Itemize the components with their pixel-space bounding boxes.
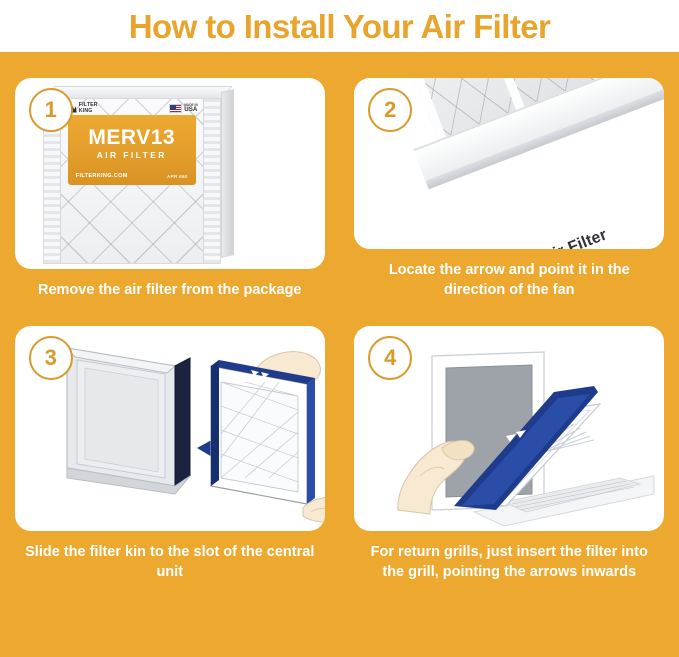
step-1-caption: Remove the air filter from the package [20,280,320,300]
usa-text-block: MADE IN USA [184,104,197,113]
central-unit-box [67,348,190,494]
step-1-badge: 1 [29,88,73,132]
filter-orange-label: MERV13 AIR FILTER FILTERKING.COM APR 650 [68,115,196,185]
step-3: 3 Slide the filter kin to the slot of th… [0,300,340,657]
step-2: Air Filter AIRFLOW 2 Locate the arrow an… [340,52,679,300]
filter-right-pleats [203,99,220,263]
made-in-usa-mark: MADE IN USA [169,104,197,113]
step-4-card: 4 [354,326,664,531]
filter-side-edge [221,89,234,258]
step-1: FILTER KING MADE IN USA [0,52,340,300]
air-filter-side-label: Air Filter [540,226,610,249]
step-4-caption: For return grills, just insert the filte… [359,542,659,582]
step-2-badge: 2 [368,88,412,132]
filter-corner-body: Air Filter AIRFLOW [366,78,664,222]
steps-background: FILTER KING MADE IN USA [0,52,679,657]
country-label: USA [184,106,197,113]
step-1-card: FILTER KING MADE IN USA [15,78,325,269]
brand-name: FILTER KING [79,103,98,114]
step-3-card: 3 [15,326,325,531]
blue-framed-filter [211,360,315,504]
step-4-badge: 4 [368,336,412,380]
label-footer-row: FILTERKING.COM APR 650 [76,173,188,179]
title-bar: How to Install Your Air Filter [0,0,679,52]
apr-rating-label: APR 650 [167,174,188,179]
step-3-caption: Slide the filter kin to the slot of the … [20,542,320,582]
step-4: 4 For return grills, just insert the fil… [340,300,679,657]
brand-line-2: KING [79,108,93,114]
filter-type-label: AIR FILTER [68,150,196,160]
merv-rating: MERV13 [68,126,196,150]
us-flag-icon [169,104,182,113]
step-3-badge: 3 [29,336,73,380]
step-2-card: Air Filter AIRFLOW 2 [354,78,664,249]
filter-front-face: FILTER KING MADE IN USA [43,98,221,264]
infographic-root: How to Install Your Air Filter [0,0,679,657]
filter-brand-row: FILTER KING MADE IN USA [68,101,198,116]
page-title: How to Install Your Air Filter [129,10,550,43]
website-label: FILTERKING.COM [76,173,128,179]
steps-grid: FILTER KING MADE IN USA [0,52,679,657]
step-2-caption: Locate the arrow and point it in the dir… [359,260,659,300]
